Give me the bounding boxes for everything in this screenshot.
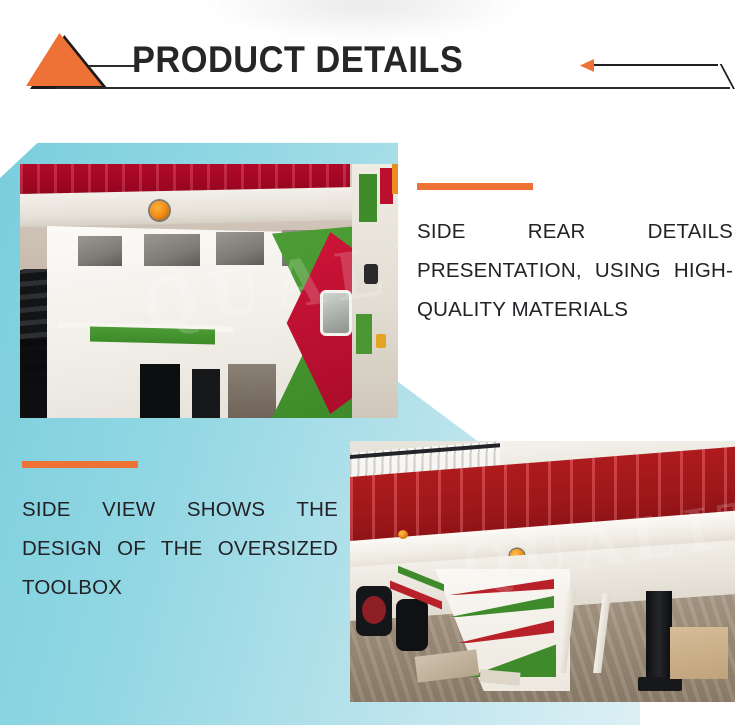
photo2-wheel-1: [356, 586, 392, 636]
photo1-rear-amber-lamp: [376, 334, 386, 348]
header-slant-edge: [684, 64, 735, 89]
photo2-wheel-2: [396, 599, 428, 651]
photo1-reflector-light: [150, 201, 169, 220]
header-smudge: [200, 0, 530, 40]
photo1-cutout-1: [78, 236, 122, 266]
left-arrow-icon: [580, 59, 594, 72]
section-1-description: SIDE REAR DETAILS PRESENTATION, USING HI…: [417, 212, 733, 329]
photo1-white-beam: [20, 187, 356, 227]
section-side-view-toolbox: SIDE VIEW SHOWS THE DESIGN OF THE OVERSI…: [22, 461, 338, 607]
photo1-cutout-3: [216, 232, 264, 265]
photo2-cardboard-box: [670, 627, 728, 679]
page-header: PRODUCT DETAILS: [0, 0, 750, 140]
photo1-rear-green-accent: [359, 174, 377, 222]
accent-bar-section-1: [417, 183, 533, 190]
photo1-rear-green-accent-2: [356, 314, 372, 354]
section-2-description: SIDE VIEW SHOWS THE DESIGN OF THE OVERSI…: [22, 490, 338, 607]
photo2-reflector-light-2: [398, 530, 408, 539]
section-side-rear-details: SIDE REAR DETAILS PRESENTATION, USING HI…: [417, 183, 733, 329]
photo2-landing-leg-foot: [638, 677, 682, 691]
photo1-rear-orange-accent: [392, 164, 398, 194]
product-photo-side-rear: QUALITY: [20, 164, 398, 418]
page-title: PRODUCT DETAILS: [132, 39, 463, 81]
product-photo-side-view: QUALITY: [350, 441, 735, 702]
background-white-right-strip: [735, 140, 750, 725]
accent-bar-section-2: [22, 461, 138, 468]
photo1-cutout-2: [144, 234, 200, 266]
photo1-green-stripe: [90, 326, 215, 344]
triangle-icon: [26, 33, 108, 89]
photo1-ground-opening-1: [228, 364, 276, 418]
photo1-dark-opening-1: [140, 364, 180, 418]
triangle-fill: [26, 33, 102, 86]
photo1-mirror: [320, 290, 352, 336]
header-connector-line: [88, 65, 136, 67]
header-baseline-rule: [55, 87, 730, 89]
product-details-page: PRODUCT DETAILS QUALITY: [0, 0, 750, 725]
photo1-rear-dark-fitting: [364, 264, 378, 284]
photo1-dark-opening-2: [192, 369, 220, 418]
photo2-landing-leg: [646, 591, 672, 683]
